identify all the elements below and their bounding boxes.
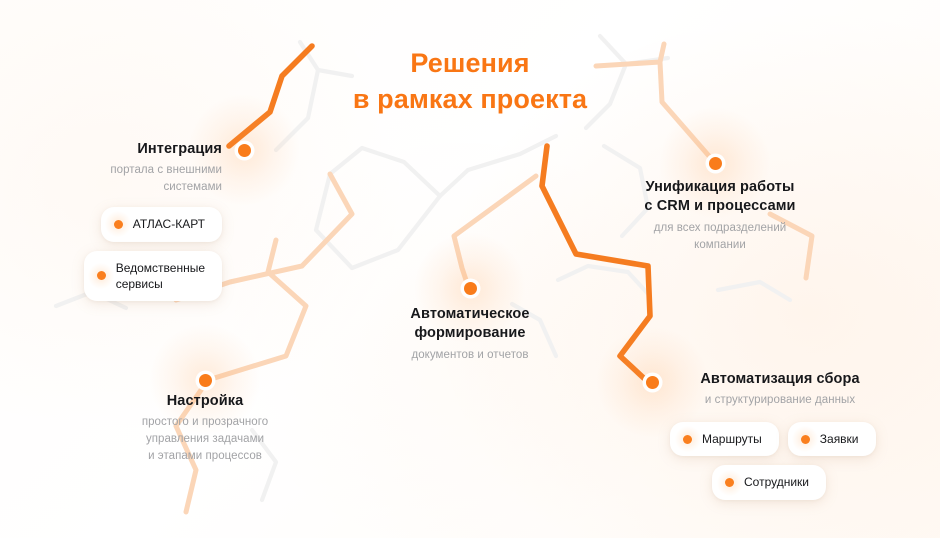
node-integration-chips-2: Ведомственные сервисы: [16, 251, 222, 301]
node-automatic-documents-subtitle: документов и отчетов: [375, 347, 565, 364]
node-integration-chips: АТЛАС-КАРТ: [16, 207, 222, 241]
chip-label: АТЛАС-КАРТ: [133, 216, 205, 232]
chip-label: Сотрудники: [744, 474, 809, 490]
node-setup-title: Настройка: [110, 392, 300, 411]
chip-vedomstvennye-servisy[interactable]: Ведомственные сервисы: [84, 251, 222, 301]
node-data-collection: Автоматизация сбора и структурирование д…: [670, 370, 890, 500]
chip-atlas-kart[interactable]: АТЛАС-КАРТ: [101, 207, 222, 241]
node-automatic-documents: Автоматическое формирование документов и…: [375, 305, 565, 364]
node-data-collection-title: Автоматизация сбора: [670, 370, 890, 389]
node-setup-subtitle: простого и прозрачного управления задача…: [110, 414, 300, 465]
chip-label: Ведомственные сервисы: [116, 260, 205, 292]
node-integration-title: Интеграция: [16, 140, 222, 159]
node-integration: Интеграция портала с внешними системами …: [16, 140, 222, 301]
chip-label: Маршруты: [702, 431, 762, 447]
infographic-canvas: Решения в рамках проекта Интеграция порт…: [0, 0, 940, 538]
node-unification: Унификация работы с CRM и процессами для…: [640, 178, 800, 254]
node-data-collection-chips-row1: Маршруты Заявки: [670, 422, 890, 456]
chip-label: Заявки: [820, 431, 859, 447]
node-dot-icon: [709, 157, 722, 170]
chip-dot-icon: [801, 435, 810, 444]
chip-dot-icon: [114, 220, 123, 229]
node-dot-icon: [199, 374, 212, 387]
node-data-collection-chips-row2: Сотрудники: [670, 465, 890, 499]
node-automatic-documents-title: Автоматическое формирование: [375, 305, 565, 344]
node-unification-title: Унификация работы с CRM и процессами: [640, 178, 800, 217]
node-dot-icon: [646, 376, 659, 389]
node-dot-icon: [238, 144, 251, 157]
chip-dot-icon: [725, 478, 734, 487]
node-data-collection-subtitle: и структурирование данных: [670, 392, 890, 409]
node-setup: Настройка простого и прозрачного управле…: [110, 392, 300, 465]
node-dot-icon: [464, 282, 477, 295]
chip-marshruty[interactable]: Маршруты: [670, 422, 779, 456]
chip-dot-icon: [97, 271, 106, 280]
chip-zayavki[interactable]: Заявки: [788, 422, 876, 456]
chip-dot-icon: [683, 435, 692, 444]
chip-sotrudniki[interactable]: Сотрудники: [712, 465, 826, 499]
node-integration-subtitle: портала с внешними системами: [16, 162, 222, 196]
page-title: Решения в рамках проекта: [0, 46, 940, 118]
node-unification-subtitle: для всех подразделений компании: [640, 220, 800, 254]
